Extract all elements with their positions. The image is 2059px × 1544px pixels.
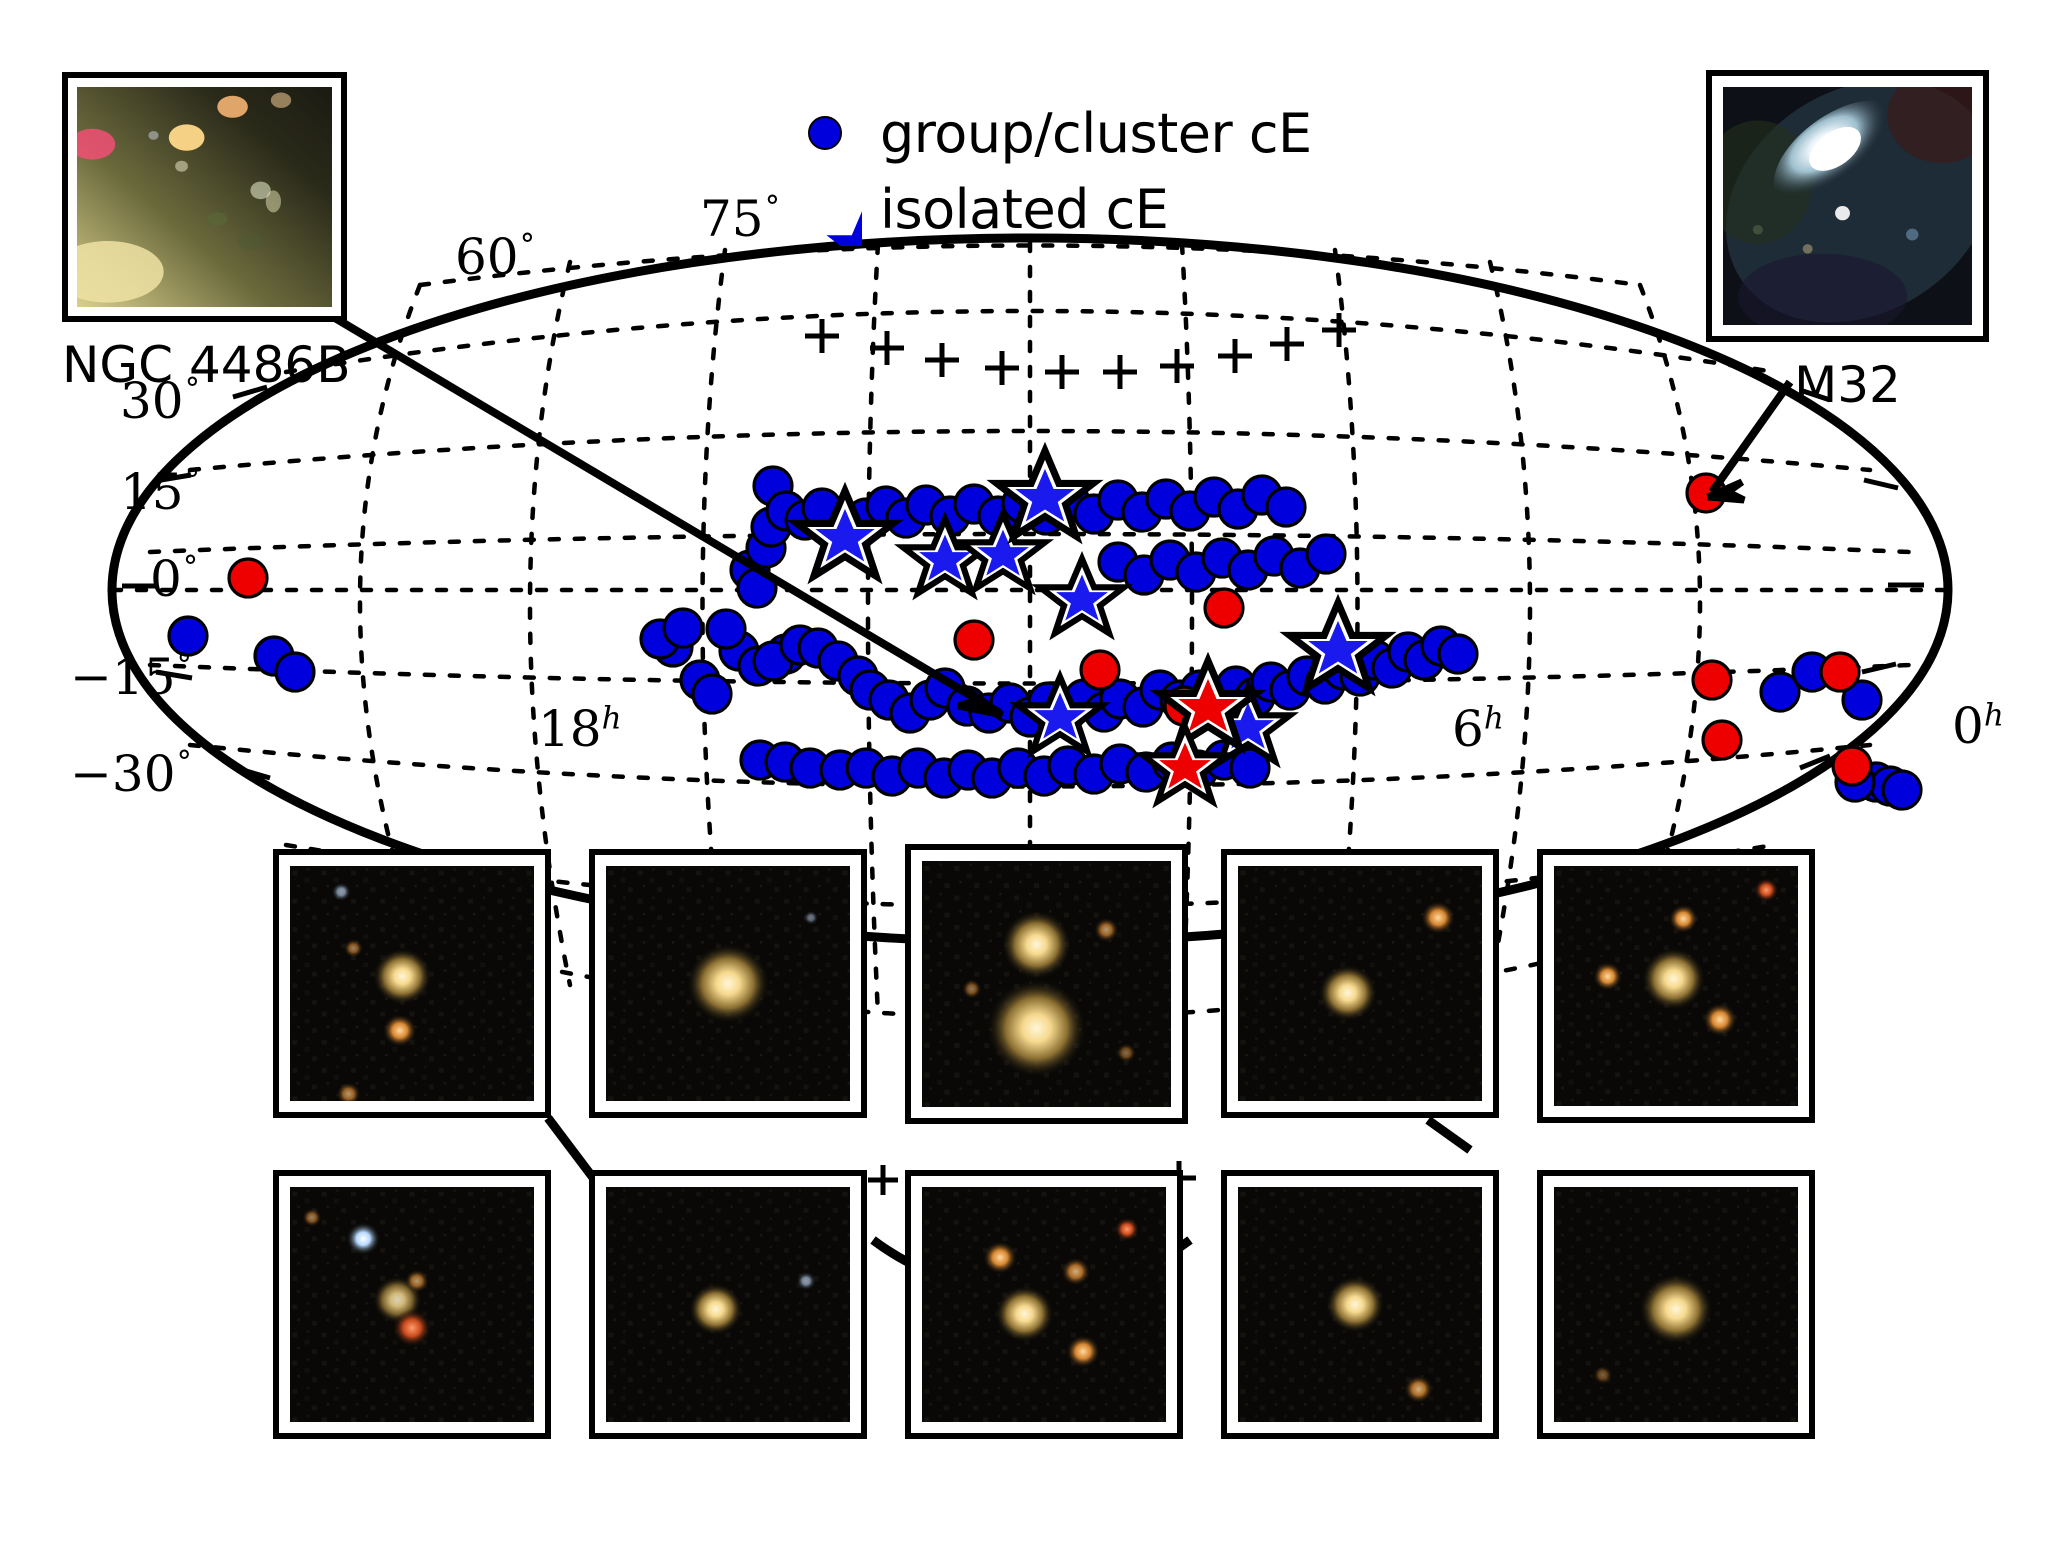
inset-label-ngc4486b: NGC 4486B (62, 336, 347, 394)
thumbnail-bottom-4 (1221, 1170, 1499, 1439)
thumb-connector-right (1428, 1120, 1470, 1150)
thumbnail-top-4 (1221, 849, 1499, 1118)
thumbnail-top-3 (905, 844, 1188, 1124)
thumbnail-bottom-1-image (290, 1187, 534, 1422)
isolated-marker-icon (770, 172, 880, 246)
thumbnail-top-4-image (1238, 866, 1482, 1101)
data-point-circle (1821, 653, 1859, 691)
ra-label-18h: 18h (538, 700, 622, 758)
thumbnail-top-5-image (1554, 866, 1798, 1106)
inset-ngc4486b (62, 72, 347, 322)
data-point-circle (1703, 721, 1741, 759)
inset-label-m32: M32 (1706, 356, 1989, 414)
ngc4486b-image (77, 87, 332, 307)
thumbnail-top-3-image (922, 861, 1171, 1107)
data-point-circle (1439, 635, 1477, 673)
data-point-circle (1833, 747, 1871, 785)
data-point-circle (1205, 589, 1243, 627)
data-point-circle (1081, 651, 1119, 689)
thumbnail-top-1 (273, 849, 551, 1118)
dec-label-minus30: −30° (70, 745, 191, 803)
data-point-circle (1267, 488, 1305, 526)
legend-label-isolated: isolated cE (880, 178, 1168, 241)
thumbnail-bottom-1 (273, 1170, 551, 1439)
inset-m32 (1706, 70, 1989, 342)
dec-label-75: 75° (700, 190, 779, 248)
data-point-circle (664, 609, 702, 647)
data-point-circle (1307, 535, 1345, 573)
dec-label-60: 60° (455, 228, 534, 286)
annotation-pointers (335, 318, 1790, 1290)
m32-image (1723, 87, 1972, 325)
dec-label-15: 15° (120, 463, 199, 521)
thumbnail-top-2 (589, 849, 867, 1118)
thumbnail-bottom-2-image (606, 1187, 850, 1422)
data-point-circle (955, 621, 993, 659)
thumbnail-top-5 (1537, 849, 1815, 1123)
legend-item-group-cluster: group/cluster cE (770, 95, 1312, 171)
legend-label-group-cluster: group/cluster cE (880, 102, 1312, 165)
data-points-layer (169, 451, 1921, 809)
data-point-circle (693, 675, 731, 713)
dec-label-minus15: −15° (70, 648, 191, 706)
thumbnail-bottom-5 (1537, 1170, 1815, 1439)
thumbnail-bottom-3 (905, 1170, 1183, 1439)
data-point-circle (1883, 771, 1921, 809)
thumbnail-top-2-image (606, 866, 850, 1101)
data-point-circle (276, 653, 314, 691)
ra-label-6h: 6h (1452, 700, 1504, 758)
thumbnail-bottom-2 (589, 1170, 867, 1439)
ra-label-0h: 0h (1952, 697, 2004, 755)
legend: group/cluster cE isolated cE (770, 95, 1312, 247)
data-point-circle (229, 559, 267, 597)
data-point-circle (707, 610, 745, 648)
dec-label-0: 0° (150, 550, 197, 608)
figure-root: group/cluster cE isolated cE 75° 60° 30°… (0, 0, 2059, 1544)
thumbnail-top-1-image (290, 866, 534, 1101)
data-point-circle (1693, 661, 1731, 699)
legend-item-isolated: isolated cE (770, 171, 1312, 247)
thumbnail-bottom-4-image (1238, 1187, 1482, 1422)
group-cluster-marker-icon (770, 108, 880, 158)
thumbnail-bottom-3-image (922, 1187, 1166, 1422)
thumbnail-bottom-5-image (1554, 1187, 1798, 1422)
